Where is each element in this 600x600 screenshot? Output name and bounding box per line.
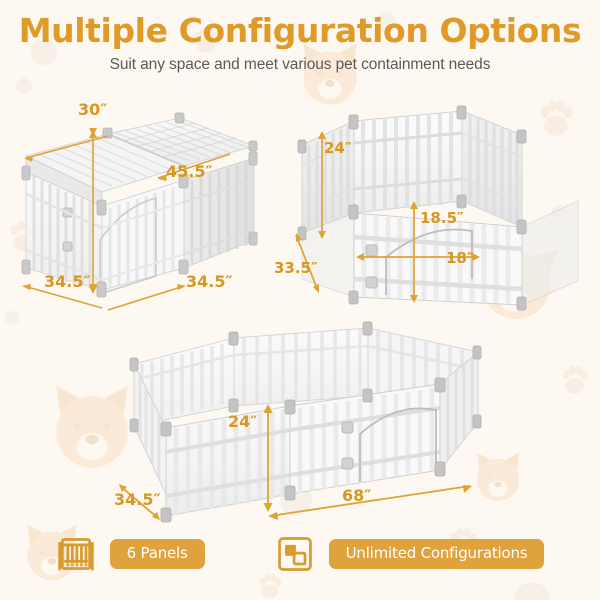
rect-latch-bottom <box>342 458 353 469</box>
infographic-canvas: Multiple Configuration Options Suit any … <box>0 0 600 600</box>
page-subtitle: Suit any space and meet various pet cont… <box>0 56 600 74</box>
hex-panel-back-right <box>462 111 522 227</box>
configuration-blocks-icon <box>275 534 315 574</box>
diagram-rectangle-playpen: 24″ 34.5″ 68″ <box>110 318 510 528</box>
diagram-hexagon-playpen: 24″ 18.5″ 18″ 33.5″ <box>296 105 596 320</box>
hex-latch-top <box>366 245 377 256</box>
hex-latch-bottom <box>366 277 377 288</box>
feature-panels: 6 Panels <box>56 534 205 574</box>
hex-panel-front-right <box>522 201 578 305</box>
dim-rect-width: 34.5″ <box>114 490 161 509</box>
dim-hex-door-width: 18″ <box>446 249 474 267</box>
dim-hex-span: 33.5″ <box>274 259 318 277</box>
diagram-roofed-crate: 30″ 45.5″ 34.5″ 34.5″ <box>8 100 308 315</box>
configurations-badge: Unlimited Configurations <box>329 539 545 569</box>
dim-hex-door-height: 18.5″ <box>420 209 464 227</box>
dim-roof-side: 34.5″ <box>186 272 233 291</box>
feature-configurations: Unlimited Configurations <box>275 534 545 574</box>
dim-rect-panel-height: 24″ <box>228 412 257 431</box>
crate-latch-bottom <box>63 242 72 251</box>
dim-hex-panel-height: 24″ <box>324 139 352 157</box>
playpen-panel-icon <box>56 534 96 574</box>
header: Multiple Configuration Options Suit any … <box>0 14 600 74</box>
rect-latch-top <box>342 422 353 433</box>
feature-bar: 6 Panels Unlimited Configurations <box>0 524 600 584</box>
dim-rect-length: 68″ <box>342 486 371 505</box>
dim-roof-height: 30″ <box>78 100 107 119</box>
hex-panel-back-center <box>354 111 462 213</box>
dim-roof-width: 34.5″ <box>44 272 91 291</box>
page-title: Multiple Configuration Options <box>0 14 600 49</box>
panels-badge: 6 Panels <box>110 539 205 569</box>
dim-roof-depth: 45.5″ <box>166 162 213 181</box>
